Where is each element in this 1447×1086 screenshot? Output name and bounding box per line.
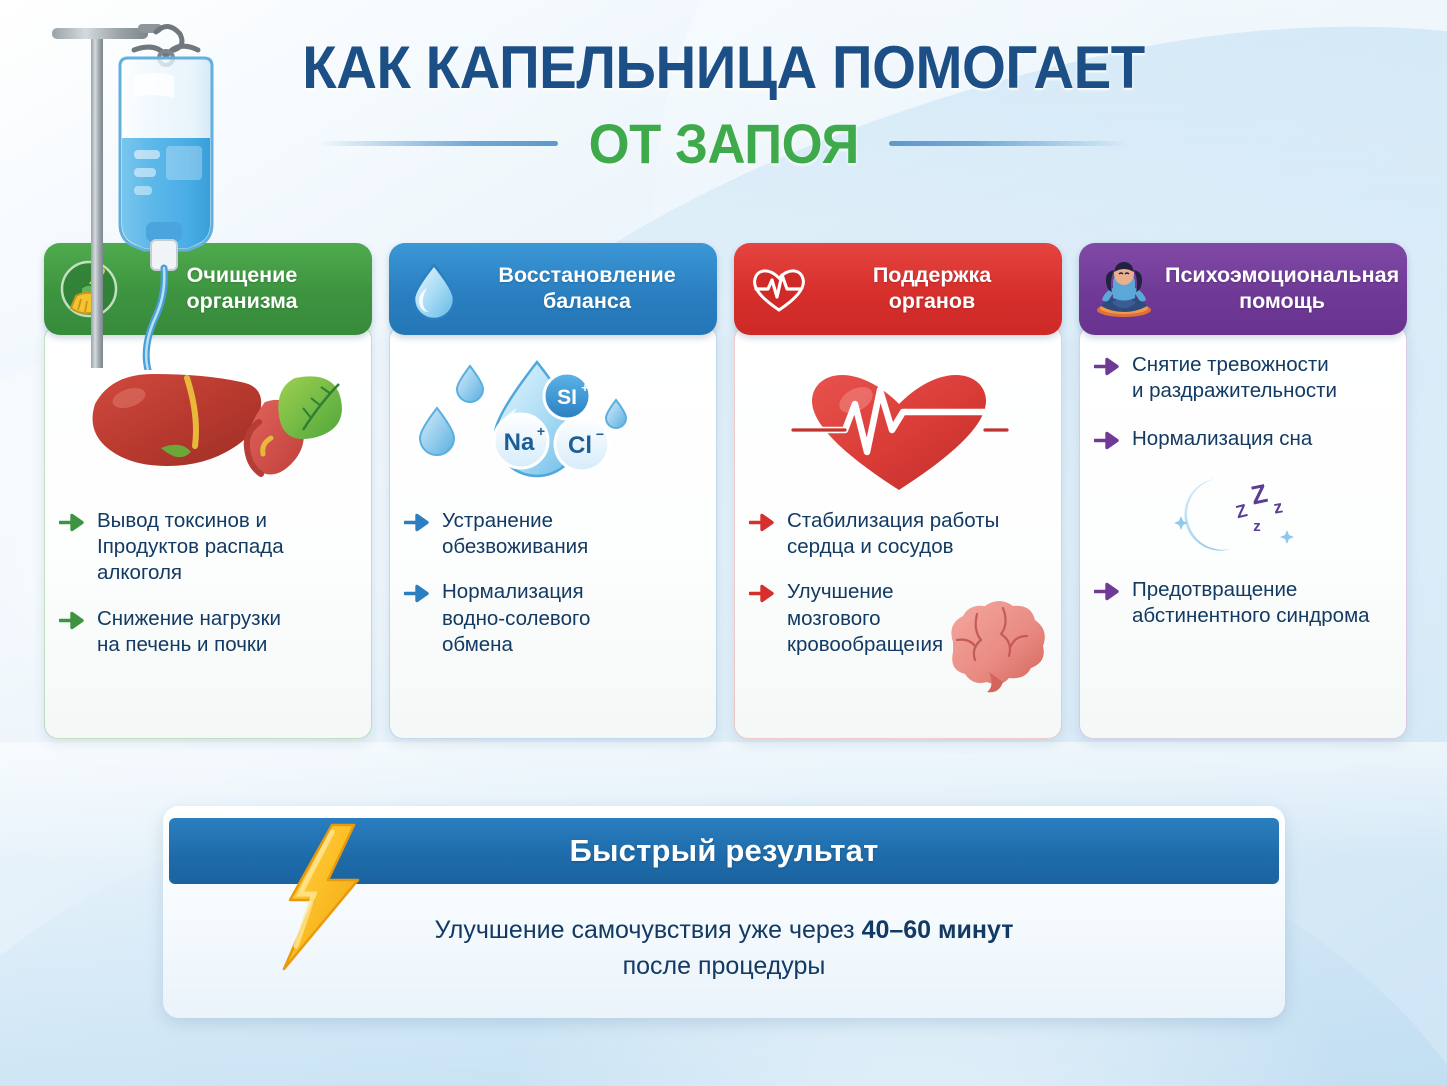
svg-text:−: − <box>596 426 604 442</box>
title-rule-left <box>318 141 558 146</box>
card-psycho[interactable]: Психоэмоциональнаяпомощь Снятие тревожно… <box>1079 243 1407 739</box>
list-item-text: Предотвращениеабстинентного синдрома <box>1132 577 1370 629</box>
list-item: Снятие тревожностии раздражительности <box>1094 352 1390 404</box>
list-item-text: Стабилизация работысердца и сосудов <box>787 508 999 560</box>
list-item: Вывод токсинов иIпродуктов распадаалкого… <box>59 508 355 587</box>
svg-text:SI: SI <box>557 386 577 409</box>
list-item-text: Устранениеобезвоживания <box>442 508 588 560</box>
brain-icon <box>935 596 1055 694</box>
list-item: Нормализация сна <box>1094 426 1390 452</box>
svg-text:+: + <box>537 423 545 439</box>
fast-result-highlight: 40–60 минут <box>862 916 1014 944</box>
arrow-right-icon <box>1094 431 1121 450</box>
svg-text:z: z <box>1253 518 1261 535</box>
svg-text:Z: Z <box>1234 500 1250 522</box>
list-item-text: Вывод токсинов иIпродуктов распадаалкого… <box>97 508 284 587</box>
arrow-right-icon <box>749 584 776 603</box>
arrow-right-icon <box>749 513 776 532</box>
list-item: Предотвращениеабстинентного синдрома <box>1094 577 1390 629</box>
arrow-right-icon <box>404 584 431 603</box>
infographic-poster: КАК КАПЕЛЬНИЦА ПОМОГАЕТ ОТ ЗАПОЯ <box>0 0 1447 1086</box>
lightning-bolt-icon <box>276 822 368 972</box>
list-item: Устранениеобезвоживания <box>404 508 700 560</box>
card-organs[interactable]: Поддержкаорганов <box>734 243 1062 739</box>
arrow-right-icon <box>59 611 86 630</box>
fast-result-text-before: Улучшение самочувствия уже через <box>435 916 862 944</box>
list-item-text: Улучшениемозговогокровообращеıия <box>787 579 943 658</box>
poster-title-line2: ОТ ЗАПОЯ <box>588 111 858 176</box>
list-item-text: Снятие тревожностии раздражительности <box>1132 352 1337 404</box>
list-item-text: Нормализация сна <box>1132 426 1312 452</box>
card-psycho-title: Психоэмоциональнаяпомощь <box>1165 263 1403 315</box>
electrolyte-drops-icon: SI + Na + Cl − <box>404 352 700 502</box>
fast-result-title: Быстрый результат <box>570 833 879 869</box>
card-cleansing-bullets: Вывод токсинов иIпродуктов распадаалкого… <box>59 508 355 658</box>
heart-pulse-icon <box>748 258 810 320</box>
card-organs-title: Поддержкаорганов <box>820 263 1048 315</box>
card-psycho-body: Снятие тревожностии раздражительности Но… <box>1079 325 1407 739</box>
card-balance[interactable]: Восстановлениебаланса <box>389 243 717 739</box>
arrow-right-icon <box>1094 357 1121 376</box>
card-balance-bullets: Устранениеобезвоживания Нормализацияводн… <box>404 508 700 658</box>
svg-text:Cl: Cl <box>568 432 592 459</box>
svg-text:Z: Z <box>1248 478 1270 511</box>
title-rule-right <box>889 141 1129 146</box>
card-balance-title: Восстановлениебаланса <box>475 263 703 315</box>
liver-kidney-leaf-icon <box>59 352 355 502</box>
card-cleansing-body: Вывод токсинов иIпродуктов распадаалкого… <box>44 325 372 739</box>
list-item: Снижение нагрузкина печень и почки <box>59 606 355 658</box>
svg-text:+: + <box>581 380 589 395</box>
list-item: Стабилизация работысердца и сосудов <box>749 508 1045 560</box>
water-drop-icon <box>403 258 465 320</box>
list-item-text: Снижение нагрузкина печень и почки <box>97 606 281 658</box>
card-balance-body: SI + Na + Cl − Устр <box>389 325 717 739</box>
card-organs-body: Стабилизация работысердца и сосудов Улуч… <box>734 325 1062 739</box>
arrow-right-icon <box>59 513 86 532</box>
list-item-text: Нормализацияводно-солевогообмена <box>442 579 590 658</box>
arrow-right-icon <box>404 513 431 532</box>
card-psycho-bullets: Снятие тревожностии раздражительности Но… <box>1094 352 1390 629</box>
list-item: Нормализацияводно-солевогообмена <box>404 579 700 658</box>
svg-text:z: z <box>1272 496 1284 517</box>
sleeping-moon-icon: Z z Z z <box>1094 469 1390 559</box>
arrow-right-icon <box>1094 582 1121 601</box>
svg-text:Na: Na <box>504 429 535 456</box>
card-psycho-header: Психоэмоциональнаяпомощь <box>1079 243 1407 335</box>
card-organs-header: Поддержкаорганов <box>734 243 1062 335</box>
meditating-woman-icon <box>1093 258 1155 320</box>
heart-ecg-icon <box>749 352 1045 502</box>
iv-drip-icon <box>38 10 268 370</box>
card-balance-header: Восстановлениебаланса <box>389 243 717 335</box>
